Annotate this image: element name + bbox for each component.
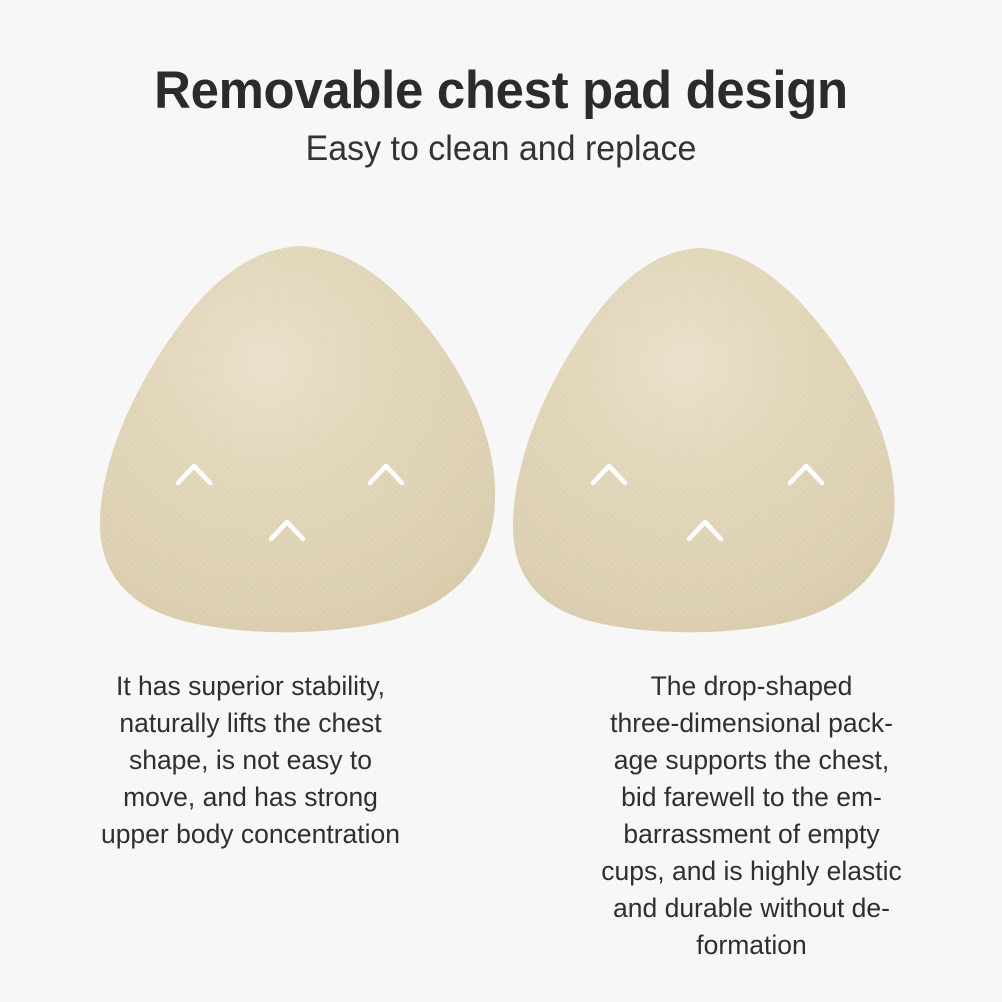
- left-caption: It has superior stability, naturally lif…: [0, 668, 501, 964]
- caption-line: shape, is not easy to: [58, 742, 443, 779]
- header-block: Removable chest pad design Easy to clean…: [0, 62, 1002, 169]
- caption-line: naturally lifts the chest: [58, 705, 443, 742]
- right-chest-pad: [513, 248, 895, 632]
- caption-line: age supports the chest,: [555, 742, 948, 779]
- caption-line: and durable without de-: [555, 890, 948, 927]
- right-pad-arrow-outer-left: [593, 466, 625, 526]
- caption-line: cups, and is highly elastic: [555, 853, 948, 890]
- caption-row: It has superior stability, naturally lif…: [0, 668, 1002, 964]
- left-pad-arrow-outer-left: [178, 466, 210, 526]
- caption-line: barrassment of empty: [555, 816, 948, 853]
- left-pad-arrow-center: [271, 522, 303, 582]
- caption-line: It has superior stability,: [58, 668, 443, 705]
- caption-line: move, and has strong: [58, 779, 443, 816]
- caption-line: bid farewell to the em-: [555, 779, 948, 816]
- caption-line: formation: [555, 927, 948, 964]
- right-pad-arrow-outer-right: [790, 466, 822, 526]
- caption-line: The drop-shaped: [555, 668, 948, 705]
- left-pad-arrow-outer-right: [370, 466, 402, 526]
- left-chest-pad: [100, 246, 495, 632]
- right-caption: The drop-shaped three-dimensional pack- …: [501, 668, 1002, 964]
- caption-line: three-dimensional pack-: [555, 705, 948, 742]
- product-infographic: Removable chest pad design Easy to clean…: [0, 0, 1002, 1002]
- page-title: Removable chest pad design: [20, 62, 982, 119]
- page-subtitle: Easy to clean and replace: [15, 129, 987, 169]
- right-pad-arrow-center: [689, 522, 721, 582]
- caption-line: upper body concentration: [58, 816, 443, 853]
